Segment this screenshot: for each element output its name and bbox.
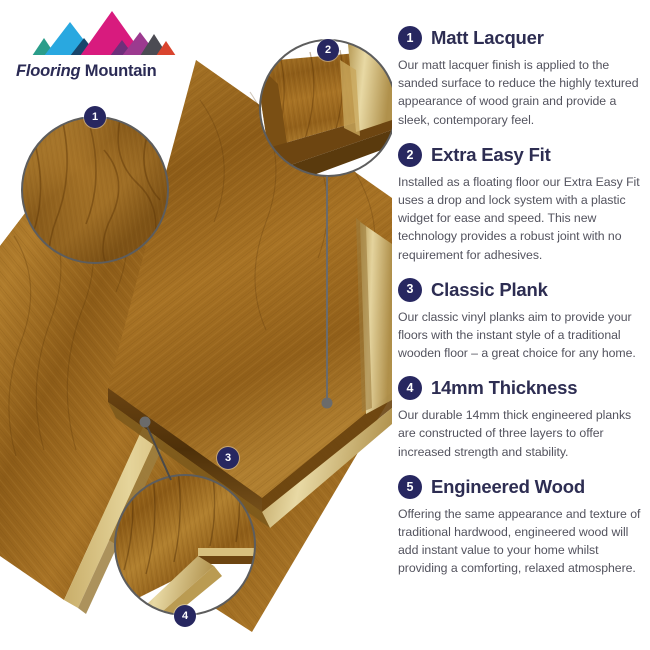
image-badge-4[interactable]: 4 (174, 605, 196, 627)
mountain-peaks-icon (24, 8, 184, 58)
feature-header: 3 Classic Plank (398, 278, 644, 302)
feature-item-3: 3 Classic Plank Our classic vinyl planks… (398, 278, 644, 363)
feature-title-extra-easy-fit: Extra Easy Fit (431, 145, 551, 165)
feature-badge-4: 4 (398, 376, 422, 400)
feature-item-2: 2 Extra Easy Fit Installed as a floating… (398, 143, 644, 264)
feature-header: 1 Matt Lacquer (398, 26, 644, 50)
product-feature-infographic: 1 2 3 4 Flooring Mountain 1 Matt Lacquer (0, 0, 650, 650)
feature-header: 5 Engineered Wood (398, 475, 644, 499)
image-badge-3[interactable]: 3 (217, 447, 239, 469)
feature-item-4: 4 14mm Thickness Our durable 14mm thick … (398, 376, 644, 461)
feature-header: 4 14mm Thickness (398, 376, 644, 400)
brand-word-flooring: Flooring (16, 62, 80, 80)
feature-body-engineered-wood: Offering the same appearance and texture… (398, 505, 644, 578)
feature-title-engineered-wood: Engineered Wood (431, 477, 585, 497)
feature-badge-1: 1 (398, 26, 422, 50)
feature-title-14mm-thickness: 14mm Thickness (431, 378, 577, 398)
feature-body-extra-easy-fit: Installed as a floating floor our Extra … (398, 173, 644, 264)
image-badge-1[interactable]: 1 (84, 106, 106, 128)
image-badge-2[interactable]: 2 (317, 39, 339, 61)
brand-wordmark: Flooring Mountain (16, 62, 191, 81)
feature-title-classic-plank: Classic Plank (431, 280, 548, 300)
feature-badge-3: 3 (398, 278, 422, 302)
brand-logo[interactable]: Flooring Mountain (16, 8, 191, 82)
feature-badge-2: 2 (398, 143, 422, 167)
feature-body-classic-plank: Our classic vinyl planks aim to provide … (398, 308, 644, 363)
plank-right-tan-edge (356, 218, 392, 414)
feature-list: 1 Matt Lacquer Our matt lacquer finish i… (398, 26, 644, 592)
feature-body-matt-lacquer: Our matt lacquer finish is applied to th… (398, 56, 644, 129)
feature-body-14mm-thickness: Our durable 14mm thick engineered planks… (398, 406, 644, 461)
feature-badge-5: 5 (398, 475, 422, 499)
product-image: 1 2 3 4 (0, 0, 392, 650)
brand-word-mountain: Mountain (85, 62, 157, 80)
feature-item-5: 5 Engineered Wood Offering the same appe… (398, 475, 644, 578)
feature-header: 2 Extra Easy Fit (398, 143, 644, 167)
feature-title-matt-lacquer: Matt Lacquer (431, 28, 544, 48)
feature-item-1: 1 Matt Lacquer Our matt lacquer finish i… (398, 26, 644, 129)
flooring-plank-illustration (0, 0, 392, 650)
